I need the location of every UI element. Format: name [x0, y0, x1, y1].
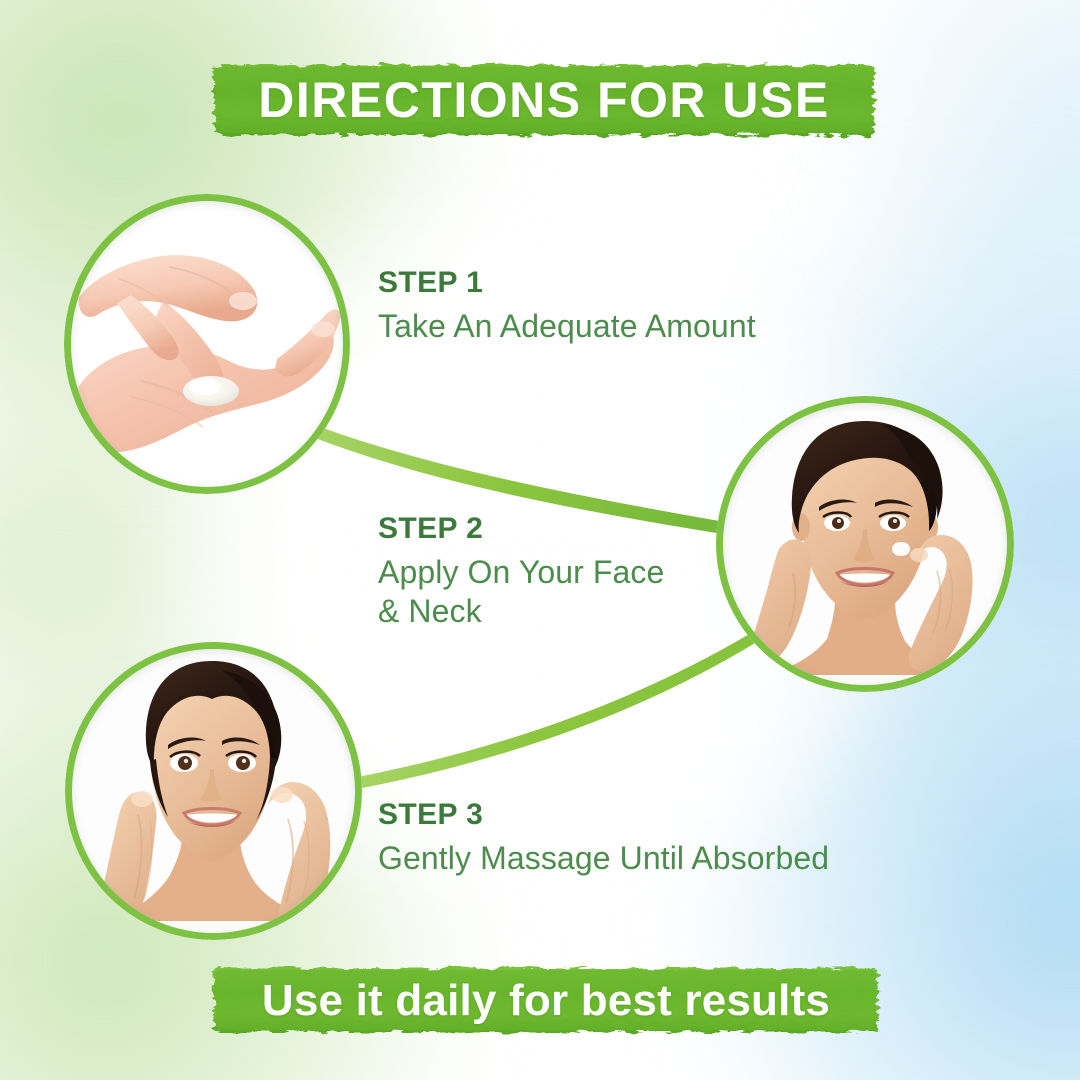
step-2-text-block: STEP 2 Apply On Your Face & Neck — [378, 512, 708, 631]
step-1-label: STEP 1 — [378, 266, 818, 301]
page-title: DIRECTIONS FOR USE — [258, 71, 829, 129]
step-3-image-circle — [65, 642, 362, 940]
step-3-text-block: STEP 3 Gently Massage Until Absorbed — [378, 798, 868, 878]
step-3-label: STEP 3 — [378, 798, 868, 833]
blue-wash-top-right — [830, 0, 1080, 320]
circle-green-ring — [65, 642, 362, 940]
footer-tagline: Use it daily for best results — [262, 976, 830, 1026]
footer-banner: Use it daily for best results — [208, 962, 884, 1040]
step-2-image-circle — [716, 396, 1014, 692]
step-2-label: STEP 2 — [378, 512, 708, 547]
step-2-description: Apply On Your Face & Neck — [378, 553, 708, 631]
circle-green-ring — [64, 194, 350, 494]
circle-green-ring — [716, 396, 1014, 692]
step-1-image-circle — [64, 194, 350, 494]
connector-step2-to-step3 — [352, 630, 760, 790]
directions-for-use-infographic: DIRECTIONS FOR USE — [0, 0, 1080, 1080]
step-1-description: Take An Adequate Amount — [378, 307, 818, 346]
step-3-description: Gently Massage Until Absorbed — [378, 839, 868, 878]
step-1-text-block: STEP 1 Take An Adequate Amount — [378, 266, 818, 346]
title-banner: DIRECTIONS FOR USE — [208, 58, 880, 142]
